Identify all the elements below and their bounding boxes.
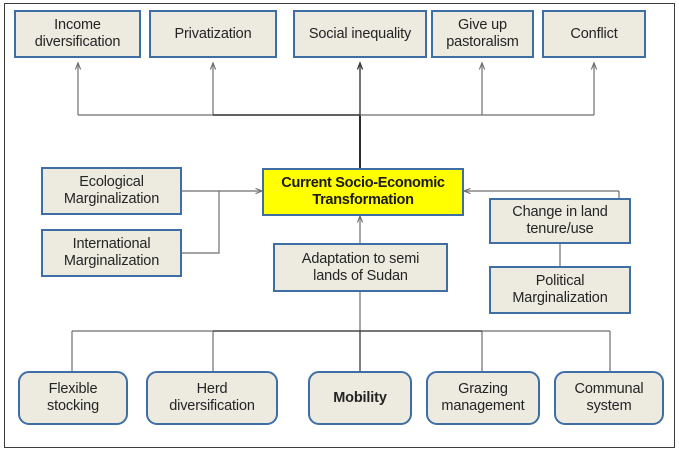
node-label: Conflict [547, 26, 641, 43]
node-label: PoliticalMarginalization [494, 273, 626, 307]
node-label: Adaptation to semilands of Sudan [278, 251, 443, 285]
node-label: Privatization [154, 26, 272, 43]
node-herd-diversification[interactable]: Herddiversification [146, 371, 278, 425]
node-label: Give uppastoralism [436, 17, 529, 51]
node-privatization[interactable]: Privatization [149, 10, 277, 58]
node-label: InternationalMarginalization [46, 236, 177, 270]
node-label: Incomediversification [19, 17, 136, 51]
node-label: Change in landtenure/use [494, 204, 626, 238]
node-political-marginalization[interactable]: PoliticalMarginalization [489, 266, 631, 314]
node-give-up-pastoralism[interactable]: Give uppastoralism [431, 10, 534, 58]
node-current-socio-economic-transformation[interactable]: Current Socio-EconomicTransformation [262, 168, 464, 216]
node-label: Grazingmanagement [431, 381, 535, 415]
node-label: Social inequality [298, 26, 422, 43]
node-conflict[interactable]: Conflict [542, 10, 646, 58]
node-income-diversification[interactable]: Incomediversification [14, 10, 141, 58]
node-adaptation-to-semi-lands-of-sudan[interactable]: Adaptation to semilands of Sudan [273, 243, 448, 292]
node-label: Communalsystem [559, 381, 659, 415]
node-label: EcologicalMarginalization [46, 174, 177, 208]
node-label: Flexiblestocking [23, 381, 123, 415]
flow-diagram: Incomediversification Privatization Soci… [0, 0, 679, 452]
node-label: Mobility [313, 390, 407, 407]
node-mobility[interactable]: Mobility [308, 371, 412, 425]
node-international-marginalization[interactable]: InternationalMarginalization [41, 229, 182, 277]
node-label: Herddiversification [151, 381, 273, 415]
node-grazing-management[interactable]: Grazingmanagement [426, 371, 540, 425]
node-label: Current Socio-EconomicTransformation [267, 175, 459, 209]
node-communal-system[interactable]: Communalsystem [554, 371, 664, 425]
node-ecological-marginalization[interactable]: EcologicalMarginalization [41, 167, 182, 215]
node-change-in-land-tenure-use[interactable]: Change in landtenure/use [489, 198, 631, 244]
node-social-inequality[interactable]: Social inequality [293, 10, 427, 58]
node-flexible-stocking[interactable]: Flexiblestocking [18, 371, 128, 425]
